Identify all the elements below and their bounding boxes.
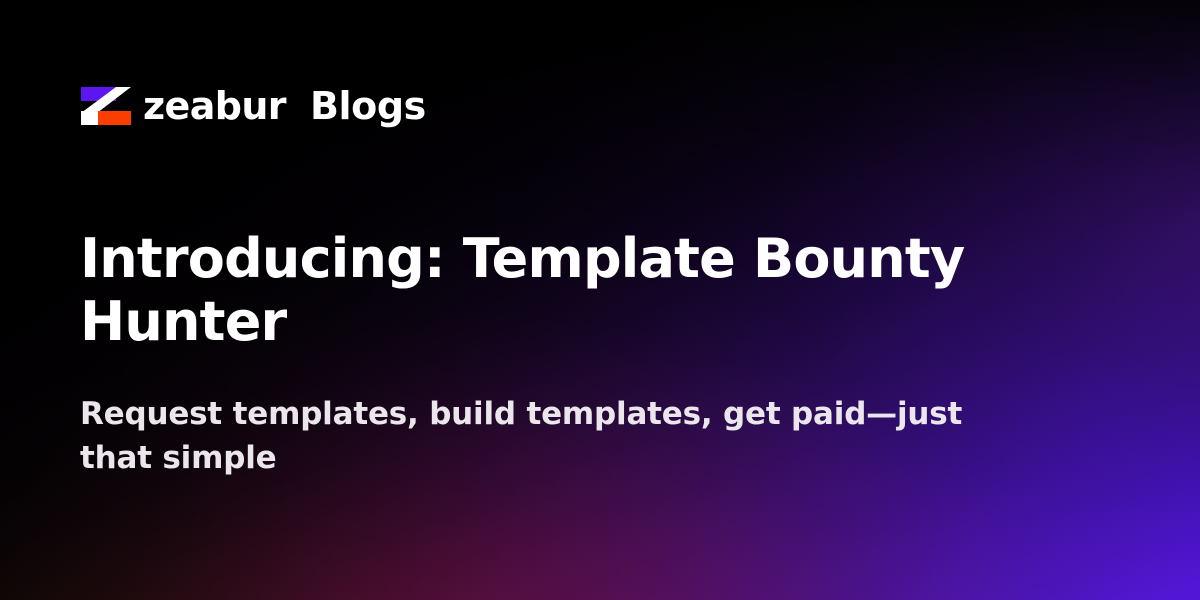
article-subtitle: Request templates, build templates, get … — [80, 392, 970, 480]
brand-lockup[interactable]: zeabur Blogs — [80, 84, 426, 128]
article-title: Introducing: Template Bounty Hunter — [80, 228, 1090, 353]
zeabur-z-logo-icon — [80, 84, 132, 128]
brand-wordmark: zeabur — [143, 87, 286, 125]
card-content: zeabur Blogs Introducing: Template Bount… — [0, 0, 1200, 600]
social-card: zeabur Blogs Introducing: Template Bount… — [0, 0, 1200, 600]
brand-section-label: Blogs — [310, 87, 426, 125]
